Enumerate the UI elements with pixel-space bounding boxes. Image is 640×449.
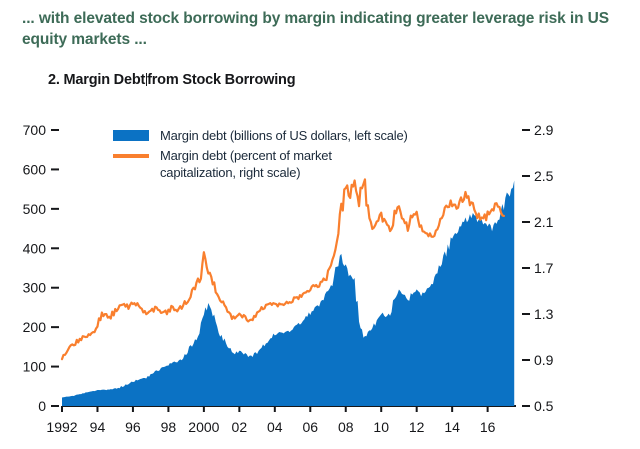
x-axis-tick-label: 04 [267, 419, 283, 435]
legend-label-percent: Margin debt (percent of market capitaliz… [160, 147, 332, 181]
left-axis-tick-label: 100 [23, 359, 47, 375]
legend-item-margin-debt-billions: Margin debt (billions of US dollars, lef… [113, 127, 408, 144]
x-axis-tick-label: 98 [161, 419, 177, 435]
x-axis-tick-label: 12 [409, 419, 425, 435]
chart-legend: Margin debt (billions of US dollars, lef… [113, 127, 408, 184]
x-axis-tick-label: 1992 [46, 419, 77, 435]
x-axis-tick-label: 16 [480, 419, 496, 435]
x-axis-tick-label: 94 [90, 419, 106, 435]
legend-line-swatch-icon [113, 150, 149, 161]
x-axis-tick-label: 10 [373, 419, 389, 435]
left-axis-tick-label: 700 [23, 122, 47, 138]
x-axis-tick-label: 14 [444, 419, 460, 435]
left-axis-tick-label: 0 [38, 398, 46, 414]
left-axis-tick-label: 600 [23, 161, 47, 177]
right-axis-tick-label: 2.9 [534, 122, 554, 138]
right-axis-tick-label: 2.5 [534, 168, 554, 184]
chart-canvas: 1992949698200002040608101214160100200300… [0, 0, 640, 449]
right-axis-tick-label: 1.7 [534, 260, 554, 276]
x-axis-tick-label: 2000 [188, 419, 219, 435]
series-layer [62, 179, 514, 406]
left-axis-tick-label: 500 [23, 201, 47, 217]
left-axis-tick-label: 200 [23, 319, 47, 335]
x-axis-tick-label: 02 [232, 419, 248, 435]
legend-area-swatch-icon [113, 130, 149, 141]
x-axis-tick-label: 06 [302, 419, 318, 435]
right-axis-tick-label: 0.9 [534, 352, 554, 368]
right-axis-tick-label: 2.1 [534, 214, 554, 230]
series-area-margin-debt-billions [62, 180, 514, 406]
left-axis-tick-label: 300 [23, 280, 47, 296]
left-axis-tick-label: 400 [23, 240, 47, 256]
chart-figure: ... with elevated stock borrowing by mar… [0, 0, 640, 449]
legend-label-billions: Margin debt (billions of US dollars, lef… [160, 127, 408, 144]
legend-item-margin-debt-percent: Margin debt (percent of market capitaliz… [113, 147, 408, 181]
right-axis-tick-label: 0.5 [534, 398, 554, 414]
right-axis-tick-label: 1.3 [534, 306, 554, 322]
x-axis-tick-label: 96 [125, 419, 141, 435]
x-axis-tick-label: 08 [338, 419, 354, 435]
